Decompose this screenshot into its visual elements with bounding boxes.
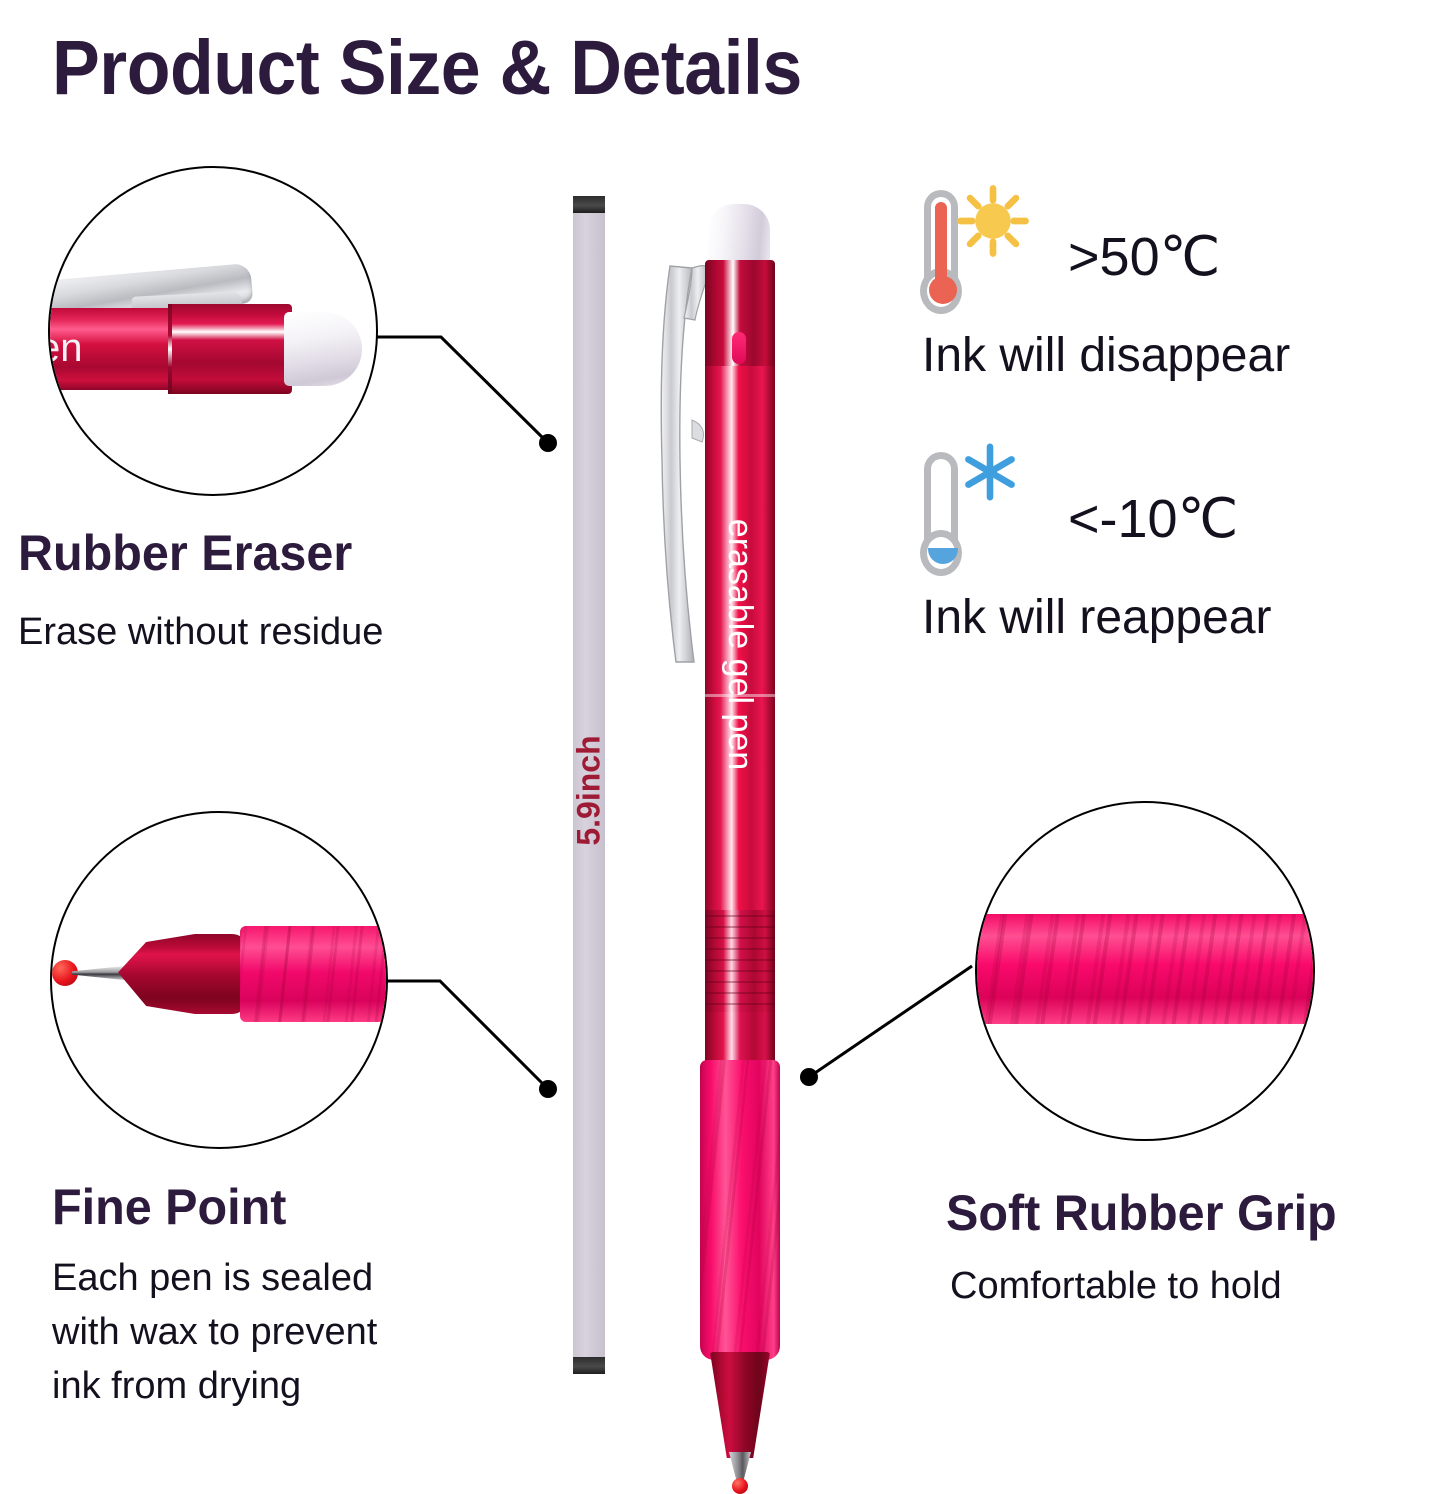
pen-ribbed-section <box>705 910 775 1016</box>
page-title: Product Size & Details <box>52 24 802 113</box>
ruler-length-label: 5.9inch <box>571 735 608 845</box>
temperature-caption-cold: Ink will reappear <box>922 590 1272 645</box>
callout-subtitle-fine-point-line-1: Each pen is sealed <box>52 1254 373 1303</box>
callout-circle-fine-point <box>50 811 388 1149</box>
leader-line-rubber-eraser <box>376 337 545 440</box>
temperature-value-cold: <-10℃ <box>1068 487 1238 550</box>
pen-barrel-partial-label: en <box>48 326 83 371</box>
pen-clicker-pip <box>732 332 746 364</box>
callout-subtitle-rubber-eraser: Erase without residue <box>18 608 383 657</box>
temperature-value-hot: >50℃ <box>1068 225 1220 288</box>
leader-dot-rubber-eraser <box>539 434 557 452</box>
pen-grip-detail <box>240 926 388 1022</box>
leader-dot-soft-rubber-grip <box>800 1068 818 1086</box>
temperature-caption-hot: Ink will disappear <box>922 328 1290 383</box>
pen-eraser-detail-image: en <box>48 272 362 390</box>
pen-illustration: erasable gel pen <box>648 204 798 1404</box>
callout-title-soft-rubber-grip: Soft Rubber Grip <box>946 1184 1337 1242</box>
temperature-row-hot: >50℃ <box>916 190 1220 322</box>
pen-barrel-label: erasable gel pen <box>721 518 760 769</box>
eraser-tip-detail <box>284 312 362 386</box>
callout-title-fine-point: Fine Point <box>52 1178 286 1236</box>
pen-rubber-grip <box>700 1060 780 1360</box>
thermometer-bulb-fill-hot <box>929 276 957 304</box>
callout-subtitle-fine-point-line-2: with wax to prevent <box>52 1308 377 1357</box>
leader-line-soft-rubber-grip <box>812 966 972 1075</box>
temperature-row-cold: <-10℃ <box>916 452 1238 584</box>
callout-subtitle-soft-rubber-grip: Comfortable to hold <box>950 1262 1282 1311</box>
sun-icon <box>956 184 1030 258</box>
thermometer-cold-icon <box>916 452 972 584</box>
ballpoint-needle-detail <box>72 966 124 980</box>
callout-circle-soft-rubber-grip <box>975 801 1315 1141</box>
thermometer-hot-icon <box>916 190 972 322</box>
callout-title-rubber-eraser: Rubber Eraser <box>18 524 352 582</box>
callout-circle-rubber-eraser: en <box>48 166 378 496</box>
pen-tip-cone-detail <box>118 934 246 1014</box>
snowflake-icon <box>960 442 1020 502</box>
pen-tip-detail-image <box>52 926 388 1030</box>
pen-tip-cone <box>710 1352 770 1458</box>
pen-barrel-detail-right <box>172 304 292 394</box>
leader-dot-fine-point <box>539 1080 557 1098</box>
thermometer-mercury-hot <box>935 202 947 284</box>
callout-subtitle-fine-point-line-3: ink from drying <box>52 1362 301 1411</box>
leader-line-fine-point <box>384 981 545 1086</box>
pen-lower-barrel <box>705 1012 775 1064</box>
ruler-cap-bottom <box>573 1357 605 1374</box>
pen-barrel-label-wrap: erasable gel pen <box>705 444 775 844</box>
rubber-grip-texture-detail-image <box>977 914 1315 1024</box>
ruler-length-label-wrap: 5.9inch <box>573 700 605 880</box>
ruler-cap-top <box>573 196 605 213</box>
pen-eraser-cap <box>708 204 770 266</box>
pen-tip-ball <box>732 1478 748 1494</box>
